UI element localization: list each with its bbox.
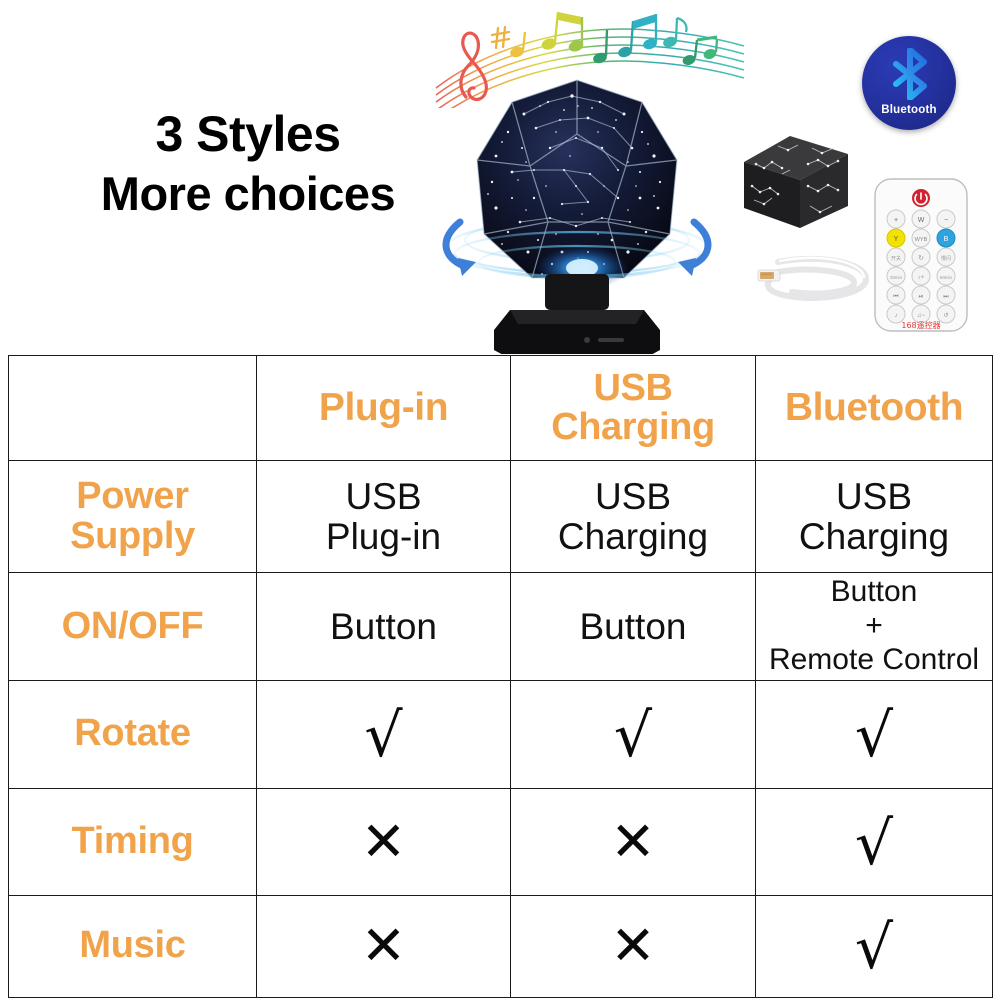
cell-power-supply-bluetooth: USB Charging [756, 461, 993, 573]
svg-text:W: W [918, 217, 925, 224]
cell-power-supply-plug-in-line-2: Plug-in [261, 517, 506, 556]
cross-icon: ✕ [610, 815, 655, 869]
column-header-plug-in: Plug-in [257, 356, 511, 461]
check-icon: √ [855, 706, 893, 766]
table-row-music: Music ✕ ✕ √ [9, 895, 993, 997]
check-icon: √ [855, 814, 893, 874]
cell-on-off-usb-charging-line-1: Button [515, 607, 751, 646]
cell-music-plug-in: ✕ [257, 895, 511, 997]
cell-music-bluetooth: √ [756, 895, 993, 997]
svg-text:60min: 60min [940, 275, 953, 280]
row-label-timing: Timing [9, 788, 257, 895]
svg-text:+: + [894, 217, 898, 224]
star-projector-image [432, 62, 722, 354]
cell-on-off-bluetooth-line-1: Button [760, 575, 988, 609]
cell-rotate-plug-in: √ [257, 680, 511, 788]
cell-on-off-usb-charging: Button [511, 573, 756, 681]
usb-cable-image [748, 246, 882, 312]
cross-icon: ✕ [610, 919, 655, 973]
svg-text:⏭: ⏭ [943, 294, 949, 300]
row-label-on-off-line-1: ON/OFF [62, 605, 204, 647]
row-label-on-off: ON/OFF [9, 573, 257, 681]
cell-power-supply-usb-charging: USB Charging [511, 461, 756, 573]
cell-power-supply-usb-charging-line-1: USB [515, 477, 751, 516]
svg-text:WYB: WYB [915, 237, 928, 243]
row-label-rotate: Rotate [9, 680, 257, 788]
svg-text:↻: ↻ [918, 255, 924, 262]
svg-text:B: B [944, 236, 949, 243]
svg-text:↺: ↺ [943, 312, 948, 319]
bluetooth-badge: Bluetooth [862, 36, 956, 130]
column-header-plug-in-line-1: Plug-in [319, 386, 448, 429]
cell-on-off-bluetooth-line-2: + [760, 609, 988, 643]
svg-text:30min: 30min [890, 275, 903, 280]
cross-icon: ✕ [361, 919, 406, 973]
row-label-power-supply: Power Supply [9, 461, 257, 573]
svg-text:−: − [944, 217, 948, 224]
remote-control-image: + W − Y WYB B 开关 ↻ 慢闪 30min ♪+ 60min ⏮ ⏯… [872, 176, 970, 334]
page-title: 3 Styles More choices [48, 104, 448, 222]
row-label-power-supply-line-2: Supply [13, 517, 252, 557]
column-header-usb-charging-line-1: USB [515, 369, 751, 408]
svg-text:开关: 开关 [891, 255, 901, 262]
cell-rotate-bluetooth: √ [756, 680, 993, 788]
cell-power-supply-plug-in: USB Plug-in [257, 461, 511, 573]
bluetooth-badge-label: Bluetooth [862, 104, 956, 116]
table-row-timing: Timing ✕ ✕ √ [9, 788, 993, 895]
svg-text:Y: Y [894, 236, 899, 243]
cell-timing-plug-in: ✕ [257, 788, 511, 895]
svg-text:⏯: ⏯ [919, 294, 924, 300]
check-icon: √ [614, 706, 652, 766]
table-header-row: Plug-in USB Charging Bluetooth [9, 356, 993, 461]
row-label-music-line-1: Music [79, 924, 185, 966]
hero-section: 3 Styles More choices [0, 0, 1000, 356]
row-label-music: Music [9, 895, 257, 997]
table-corner-cell [9, 356, 257, 461]
row-label-power-supply-line-1: Power [13, 477, 252, 517]
row-label-timing-line-1: Timing [71, 820, 193, 862]
check-icon: √ [855, 918, 893, 978]
infographic-page: 3 Styles More choices [0, 0, 1000, 1000]
cell-on-off-bluetooth-line-3: Remote Control [760, 643, 988, 677]
cell-power-supply-usb-charging-line-2: Charging [515, 517, 751, 556]
check-icon: √ [364, 706, 402, 766]
headline-line-1: 3 Styles [48, 104, 448, 165]
svg-text:♫−: ♫− [917, 313, 926, 319]
column-header-usb-charging-line-2: Charging [515, 408, 751, 447]
headline-line-2: More choices [48, 165, 448, 222]
cell-power-supply-bluetooth-line-1: USB [760, 477, 988, 516]
cell-power-supply-plug-in-line-1: USB [261, 477, 506, 516]
cell-timing-usb-charging: ✕ [511, 788, 756, 895]
table-row-power-supply: Power Supply USB Plug-in USB Charging US… [9, 461, 993, 573]
bluetooth-icon [888, 48, 932, 100]
cell-on-off-plug-in: Button [257, 573, 511, 681]
comparison-table: Plug-in USB Charging Bluetooth Power Sup… [8, 355, 993, 998]
column-header-bluetooth-line-1: Bluetooth [785, 386, 963, 429]
cross-icon: ✕ [361, 815, 406, 869]
table-row-rotate: Rotate √ √ √ [9, 680, 993, 788]
cell-on-off-bluetooth: Button + Remote Control [756, 573, 993, 681]
svg-text:♪: ♪ [895, 313, 898, 319]
svg-text:⏮: ⏮ [893, 294, 899, 300]
svg-text:♪+: ♪+ [918, 275, 925, 281]
remote-footer-label: 168遥控器 [901, 320, 940, 330]
cell-timing-bluetooth: √ [756, 788, 993, 895]
svg-text:慢闪: 慢闪 [941, 255, 951, 262]
cell-rotate-usb-charging: √ [511, 680, 756, 788]
column-header-usb-charging: USB Charging [511, 356, 756, 461]
cell-on-off-plug-in-line-1: Button [261, 607, 506, 646]
table-row-on-off: ON/OFF Button Button Button + Remote Con… [9, 573, 993, 681]
cell-music-usb-charging: ✕ [511, 895, 756, 997]
cell-power-supply-bluetooth-line-2: Charging [760, 517, 988, 556]
column-header-bluetooth: Bluetooth [756, 356, 993, 461]
row-label-rotate-line-1: Rotate [74, 712, 190, 754]
gift-box-image [738, 128, 854, 238]
